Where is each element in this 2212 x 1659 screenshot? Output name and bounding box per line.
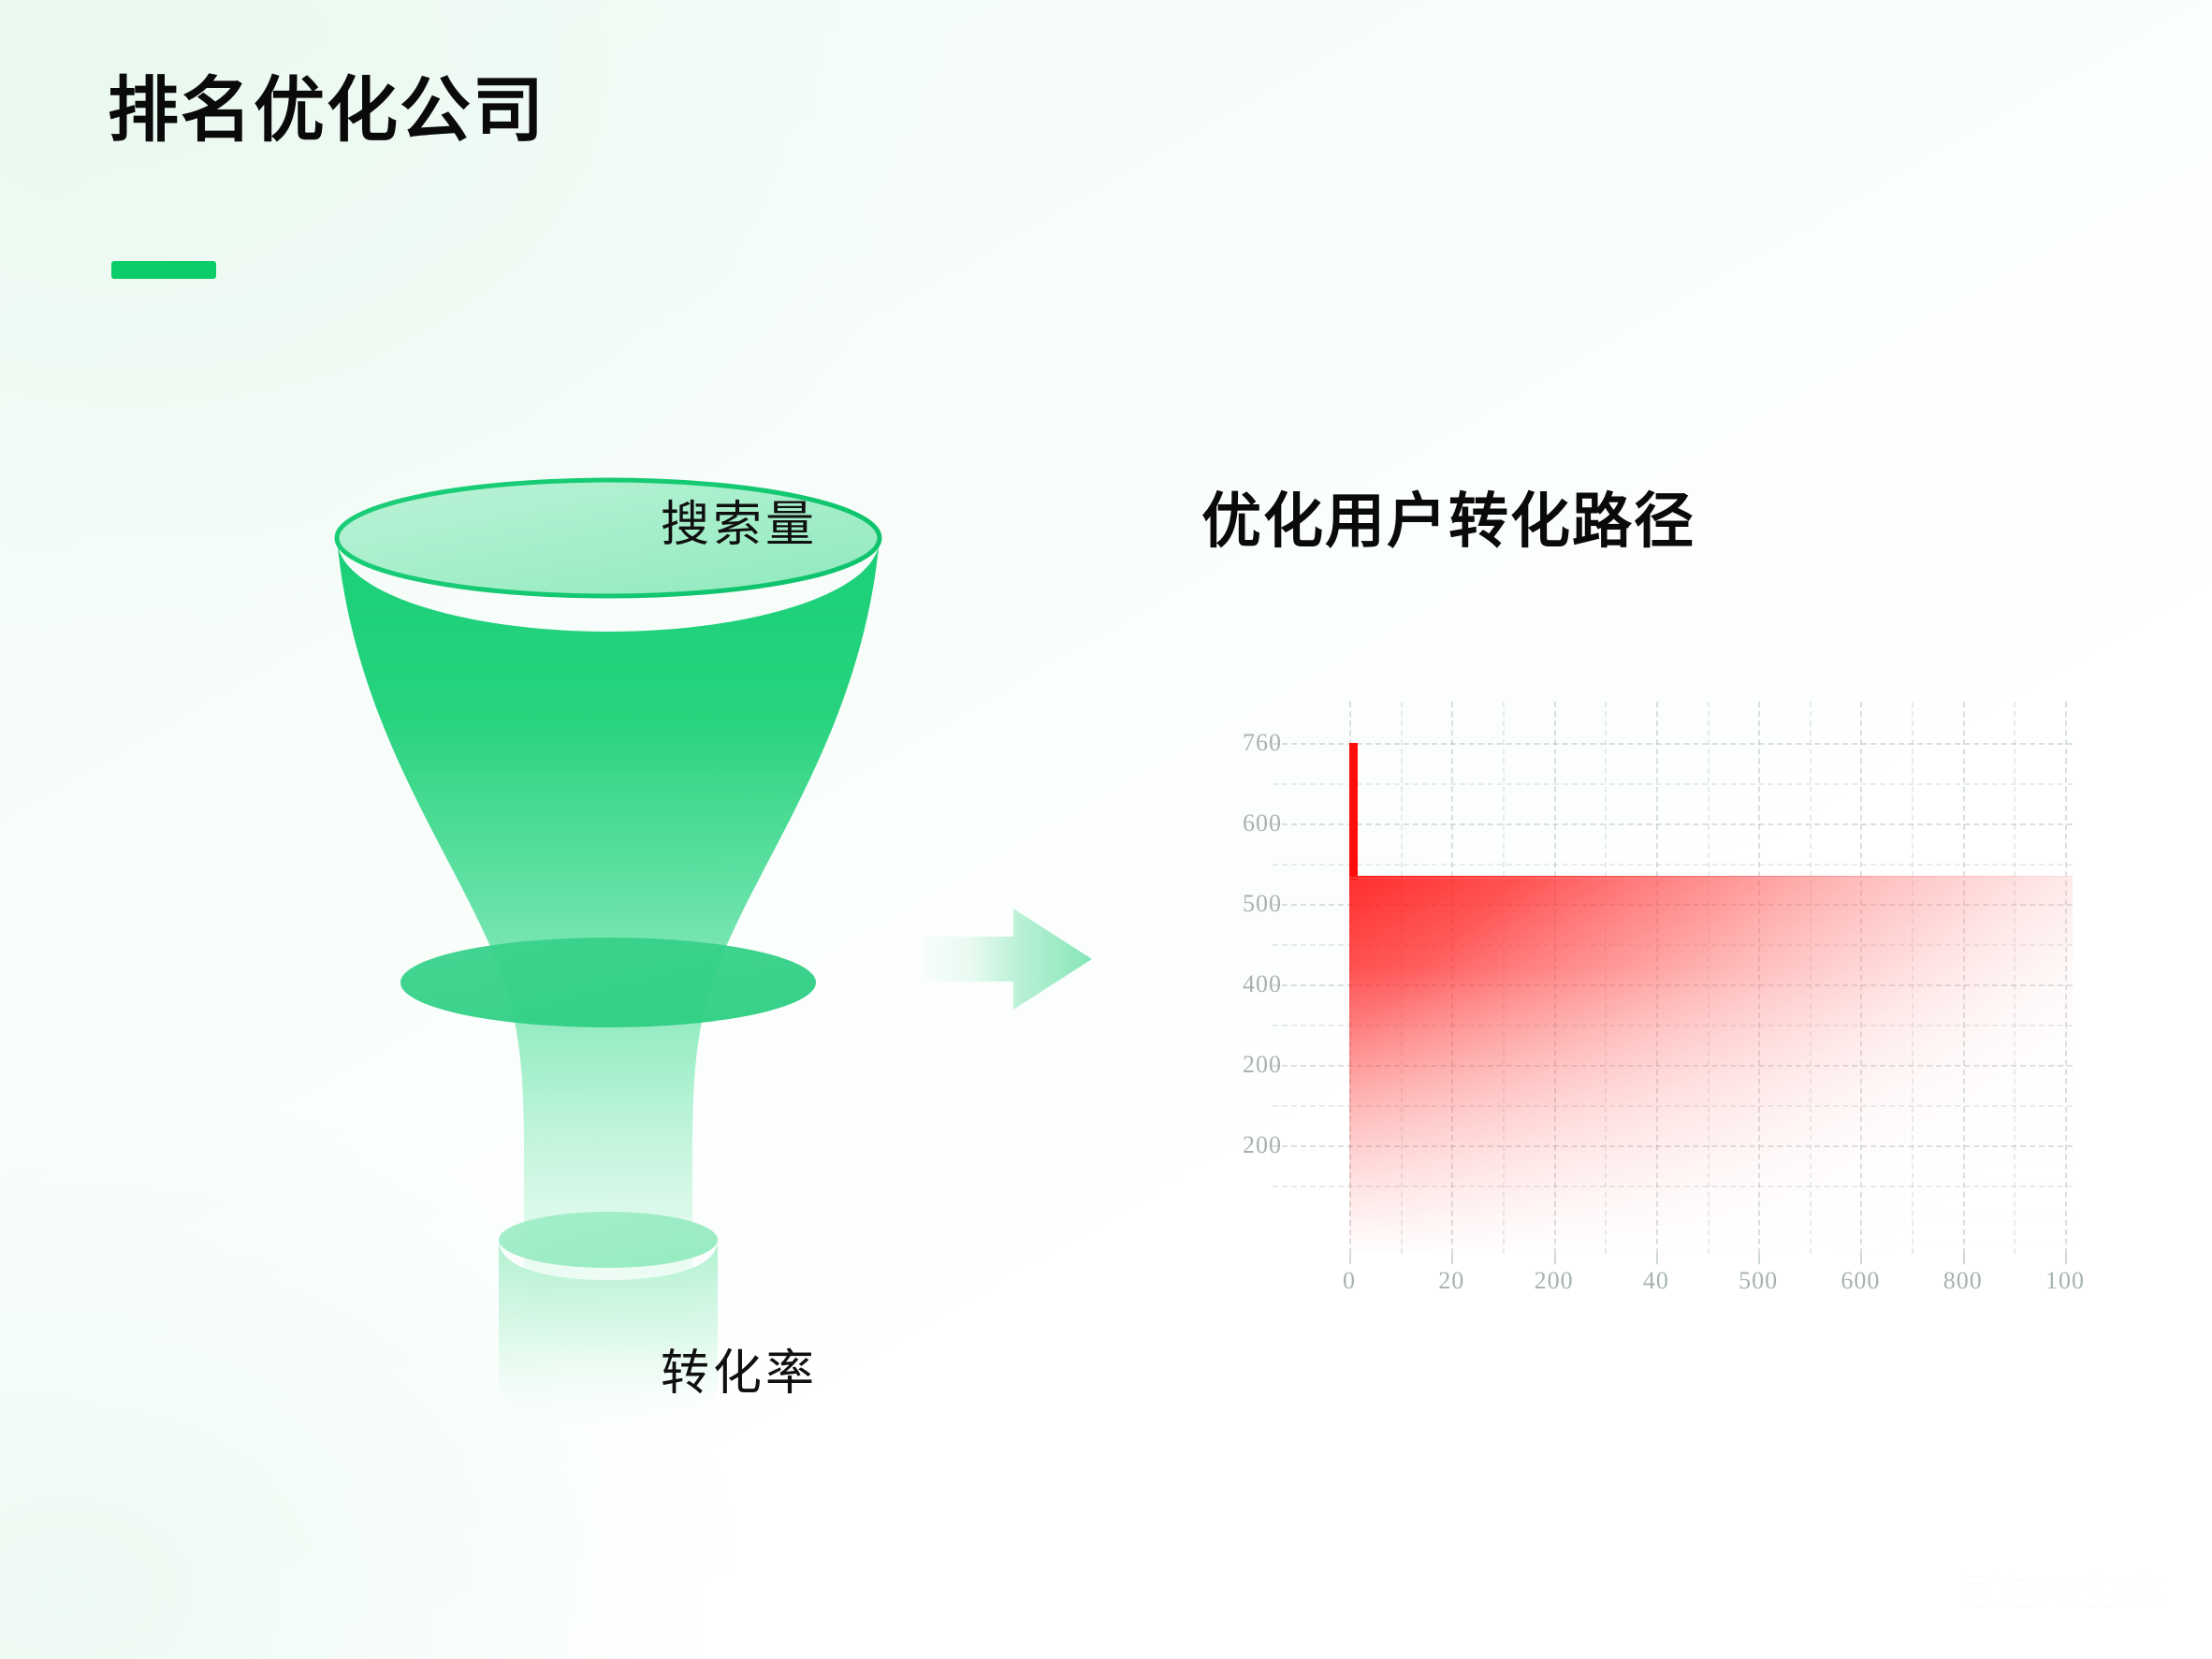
y-axis: 760600500400200200 <box>1188 702 1282 1254</box>
x-axis-tickmark <box>1349 1254 1351 1264</box>
funnel-top-label: 搜索量 <box>463 485 1015 555</box>
x-axis-tickmark <box>1451 1254 1453 1264</box>
x-axis-tick-label: 200 <box>1535 1267 1574 1295</box>
chart-series-layer <box>1273 702 2073 1254</box>
funnel-ring-lower <box>499 1212 718 1268</box>
watermark: 豆包AI生成 <box>1959 1560 2163 1614</box>
x-axis-tick-label: 800 <box>1943 1267 1983 1295</box>
page-title: 排名优化公司 <box>108 73 546 150</box>
x-axis-tickmark <box>1758 1254 1760 1264</box>
x-axis-tickmark <box>2065 1254 2067 1264</box>
x-axis-tick-label: 600 <box>1841 1267 1880 1295</box>
x-axis-tick-label: 100 <box>2045 1267 2085 1295</box>
x-axis-tickmark <box>1860 1254 1862 1264</box>
chart-plot-wrapper: 760600500400200200 <box>1198 702 2096 1310</box>
x-axis-tick-label: 20 <box>1438 1267 1464 1295</box>
y-axis-tick-label: 760 <box>1170 729 1282 757</box>
y-axis-tick-label: 200 <box>1170 1051 1282 1079</box>
arrow-right-icon <box>922 884 1109 1034</box>
x-axis-tick-label: 40 <box>1643 1267 1669 1295</box>
funnel-bottom-label: 转化率 <box>463 1333 1015 1404</box>
title-accent-bar <box>111 261 216 279</box>
chart-panel: 优化用户转化路径 760600500400200200 <box>1198 468 2115 1310</box>
x-axis-tickmark <box>1554 1254 1556 1264</box>
x-axis-tick-label: 0 <box>1343 1267 1356 1295</box>
y-axis-tick-label: 400 <box>1170 970 1282 998</box>
y-axis-tick-label: 600 <box>1170 809 1282 837</box>
funnel-ring-upper <box>400 938 816 1027</box>
chart-plot-area <box>1273 702 2073 1254</box>
x-axis-tickmark <box>1963 1254 1965 1264</box>
y-axis-tick-label: 500 <box>1170 890 1282 918</box>
x-axis-tickmark <box>1656 1254 1658 1264</box>
x-axis-tick-label: 500 <box>1739 1267 1778 1295</box>
chart-heading: 优化用户转化路径 <box>1201 473 1695 560</box>
y-axis-tick-label: 200 <box>1170 1131 1282 1159</box>
